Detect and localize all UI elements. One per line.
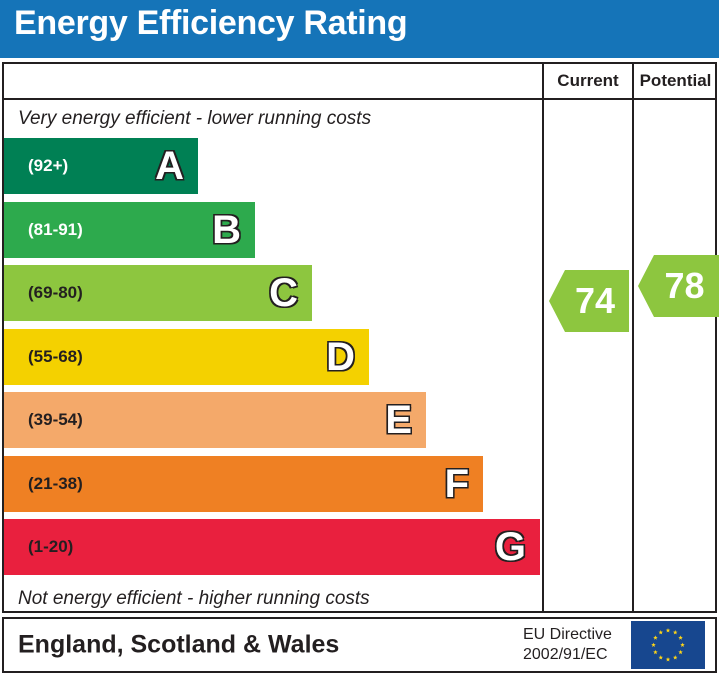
band-range-f: (21-38) <box>28 474 83 494</box>
band-bars-group: (92+)A(81-91)B(69-80)C(55-68)D(39-54)E(2… <box>4 138 540 584</box>
band-letter-g: G <box>495 527 526 567</box>
rating-table: Current Potential Very energy efficient … <box>2 62 717 613</box>
footer-directive: EU Directive 2002/91/EC <box>523 625 612 665</box>
band-bar-b: (81-91)B <box>4 202 255 258</box>
current-rating-value: 74 <box>567 283 623 319</box>
band-bar-e: (39-54)E <box>4 392 426 448</box>
footer-directive-line1: EU Directive <box>523 625 612 645</box>
potential-rating-arrow: 78 <box>638 255 719 317</box>
column-header-current: Current <box>542 64 632 98</box>
page-title: Energy Efficiency Rating <box>14 4 407 43</box>
band-range-b: (81-91) <box>28 220 83 240</box>
column-header-potential: Potential <box>632 64 717 98</box>
eu-flag-icon <box>631 621 705 669</box>
column-divider-current <box>542 100 544 611</box>
band-bar-c: (69-80)C <box>4 265 312 321</box>
band-range-c: (69-80) <box>28 283 83 303</box>
chart-header-bar: Energy Efficiency Rating <box>0 0 719 58</box>
band-letter-d: D <box>326 337 355 377</box>
potential-rating-value: 78 <box>656 268 713 304</box>
band-bar-d: (55-68)D <box>4 329 369 385</box>
band-bar-a: (92+)A <box>4 138 198 194</box>
column-header-row: Current Potential <box>4 64 715 100</box>
column-divider-potential <box>632 100 634 611</box>
band-letter-a: A <box>155 146 184 186</box>
caption-top: Very energy efficient - lower running co… <box>18 108 371 130</box>
band-range-d: (55-68) <box>28 347 83 367</box>
band-letter-c: C <box>269 273 298 313</box>
band-letter-b: B <box>212 210 241 250</box>
band-range-a: (92+) <box>28 156 68 176</box>
footer-region-label: England, Scotland & Wales <box>18 631 339 660</box>
caption-bottom: Not energy efficient - higher running co… <box>18 588 370 610</box>
band-bar-g: (1-20)G <box>4 519 540 575</box>
footer-directive-line2: 2002/91/EC <box>523 645 612 665</box>
band-letter-f: F <box>445 464 469 504</box>
band-letter-e: E <box>385 400 412 440</box>
band-bar-f: (21-38)F <box>4 456 483 512</box>
band-range-g: (1-20) <box>28 537 73 557</box>
current-rating-arrow: 74 <box>549 270 629 332</box>
band-range-e: (39-54) <box>28 410 83 430</box>
epc-certificate-chart: Energy Efficiency Rating Current Potenti… <box>0 0 719 675</box>
footer-bar: England, Scotland & Wales EU Directive 2… <box>2 617 717 673</box>
